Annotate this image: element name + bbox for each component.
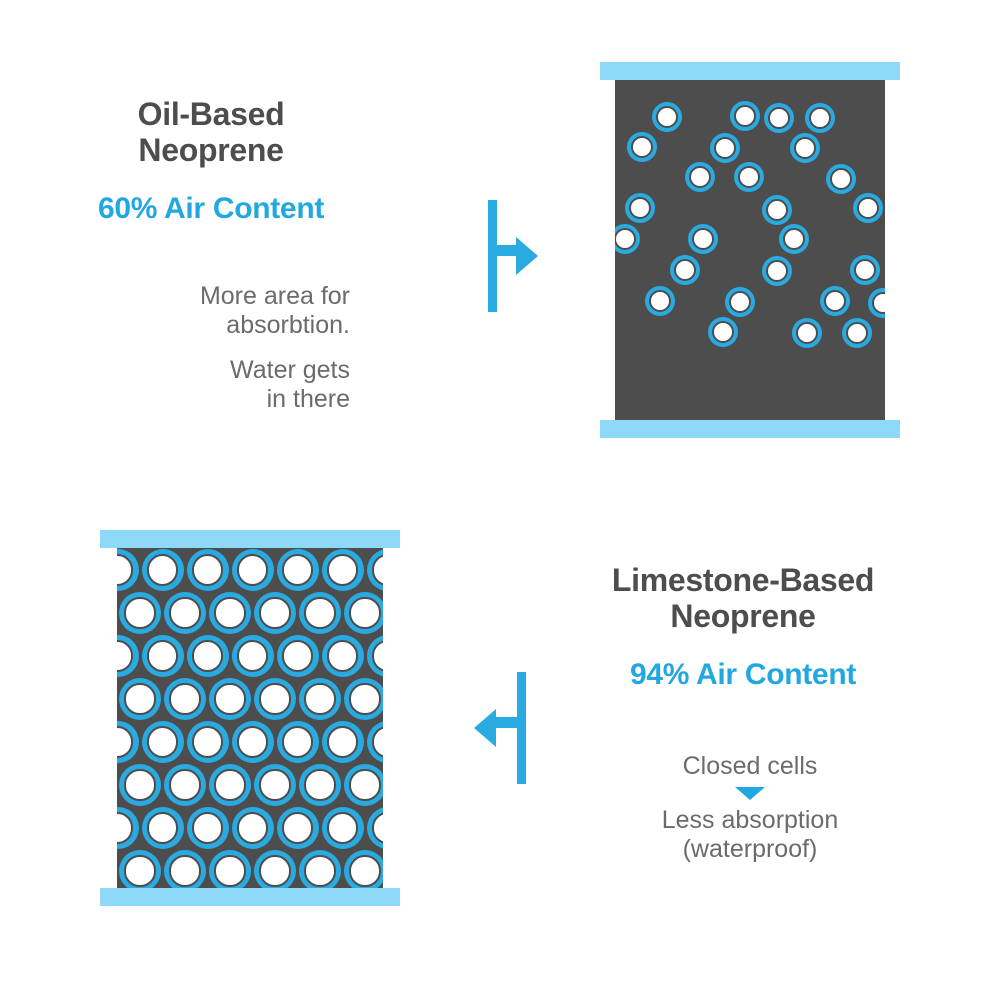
- air-cell: [764, 103, 794, 133]
- air-cell: [820, 286, 850, 316]
- limestone-heading: Limestone-Based Neoprene: [560, 562, 926, 635]
- air-cell: [209, 764, 251, 806]
- air-cell: [299, 678, 341, 720]
- swatch-top-cap: [100, 530, 400, 548]
- air-cell: [119, 850, 161, 888]
- arrow-left-indicator: [466, 672, 526, 784]
- air-cell: [187, 721, 229, 763]
- air-cell: [254, 678, 296, 720]
- oil-body-spacer: [30, 340, 350, 356]
- air-cell: [344, 678, 383, 720]
- air-cell: [164, 764, 206, 806]
- air-cell: [187, 635, 229, 677]
- air-cell: [187, 807, 229, 849]
- air-cell: [142, 549, 184, 591]
- limestone-body-line2: Less absorption: [590, 806, 910, 835]
- arrow-right-indicator: [488, 200, 548, 312]
- oil-body-line4: in there: [30, 385, 350, 414]
- air-cell: [853, 193, 883, 223]
- air-cell: [762, 195, 792, 225]
- air-cell: [670, 255, 700, 285]
- air-cell: [708, 317, 738, 347]
- air-cell: [142, 807, 184, 849]
- air-cell: [119, 764, 161, 806]
- limestone-subheading: 94% Air Content: [560, 657, 926, 693]
- air-cell: [322, 635, 364, 677]
- air-cell: [868, 288, 885, 318]
- air-cell: [232, 721, 274, 763]
- oil-heading-line2: Neoprene: [138, 132, 283, 168]
- oil-body-line2: absorbtion.: [30, 311, 350, 340]
- arrow-bar: [517, 672, 526, 784]
- swatch-top-cap: [600, 62, 900, 80]
- limestone-body-line3: (waterproof): [590, 835, 910, 864]
- air-cell: [367, 807, 384, 849]
- limestone-body-line1: Closed cells: [590, 752, 910, 781]
- air-cell: [117, 721, 139, 763]
- limestone-heading-line2: Neoprene: [670, 598, 815, 634]
- air-cell: [826, 164, 856, 194]
- arrow-bar: [488, 200, 497, 312]
- air-cell: [254, 592, 296, 634]
- air-cell: [164, 592, 206, 634]
- air-cell: [277, 549, 319, 591]
- air-cell: [322, 549, 364, 591]
- air-cell: [232, 549, 274, 591]
- swatch-core: [117, 548, 383, 888]
- air-cell: [277, 721, 319, 763]
- oil-body-line1: More area for: [30, 282, 350, 311]
- air-cell: [734, 162, 764, 192]
- limestone-neoprene-swatch: [100, 530, 400, 906]
- air-cell: [232, 807, 274, 849]
- swatch-bottom-cap: [100, 888, 400, 906]
- air-cell: [627, 132, 657, 162]
- air-cell: [254, 850, 296, 888]
- air-cell: [367, 721, 384, 763]
- oil-subheading: 60% Air Content: [30, 191, 392, 227]
- air-cell: [299, 592, 341, 634]
- oil-heading: Oil-Based Neoprene: [30, 96, 392, 169]
- arrow-head-right-icon: [516, 237, 538, 275]
- triangle-down-icon: [735, 787, 765, 800]
- oil-panel-text: Oil-Based Neoprene 60% Air Content: [30, 96, 392, 227]
- air-cell: [645, 286, 675, 316]
- limestone-heading-line1: Limestone-Based: [612, 562, 874, 598]
- oil-body-line3: Water gets: [30, 356, 350, 385]
- air-cell: [209, 678, 251, 720]
- air-cell: [805, 103, 835, 133]
- air-cell: [625, 193, 655, 223]
- arrow-head-left-icon: [474, 709, 496, 747]
- air-cell: [615, 224, 640, 254]
- air-cell: [725, 287, 755, 317]
- oil-heading-line1: Oil-Based: [138, 96, 285, 132]
- air-cell: [367, 549, 384, 591]
- arrow-stem: [496, 717, 518, 728]
- air-cell: [142, 635, 184, 677]
- air-cell: [850, 255, 880, 285]
- air-cell: [762, 256, 792, 286]
- air-cell: [277, 807, 319, 849]
- air-cell: [344, 764, 383, 806]
- swatch-bottom-cap: [600, 420, 900, 438]
- air-cell: [322, 721, 364, 763]
- air-cell: [299, 764, 341, 806]
- air-cell: [842, 318, 872, 348]
- air-cell: [142, 721, 184, 763]
- limestone-body-text: Closed cells Less absorption (waterproof…: [590, 752, 910, 864]
- air-cell: [119, 592, 161, 634]
- air-cell: [790, 133, 820, 163]
- air-cell: [117, 807, 139, 849]
- air-cell: [209, 850, 251, 888]
- air-cell: [344, 592, 383, 634]
- air-cell: [779, 224, 809, 254]
- air-cell: [232, 635, 274, 677]
- air-cell: [117, 549, 139, 591]
- air-cell: [187, 549, 229, 591]
- air-cell: [164, 678, 206, 720]
- air-cell: [344, 850, 383, 888]
- limestone-panel-text: Limestone-Based Neoprene 94% Air Content: [560, 562, 926, 693]
- air-cell: [710, 133, 740, 163]
- air-cell: [322, 807, 364, 849]
- air-cell: [688, 224, 718, 254]
- oil-neoprene-swatch: [600, 62, 900, 438]
- air-cell: [652, 102, 682, 132]
- swatch-core: [615, 80, 885, 420]
- air-cell: [277, 635, 319, 677]
- air-cell: [299, 850, 341, 888]
- air-cell: [164, 850, 206, 888]
- infographic-canvas: Oil-Based Neoprene 60% Air Content More …: [0, 0, 1000, 1000]
- air-cell: [367, 635, 384, 677]
- air-cell: [792, 318, 822, 348]
- air-cell: [254, 764, 296, 806]
- air-cell: [730, 101, 760, 131]
- arrow-stem: [496, 245, 518, 256]
- air-cell: [209, 592, 251, 634]
- oil-body-text: More area for absorbtion. Water gets in …: [30, 282, 350, 414]
- air-cell: [119, 678, 161, 720]
- air-cell: [685, 162, 715, 192]
- air-cell: [117, 635, 139, 677]
